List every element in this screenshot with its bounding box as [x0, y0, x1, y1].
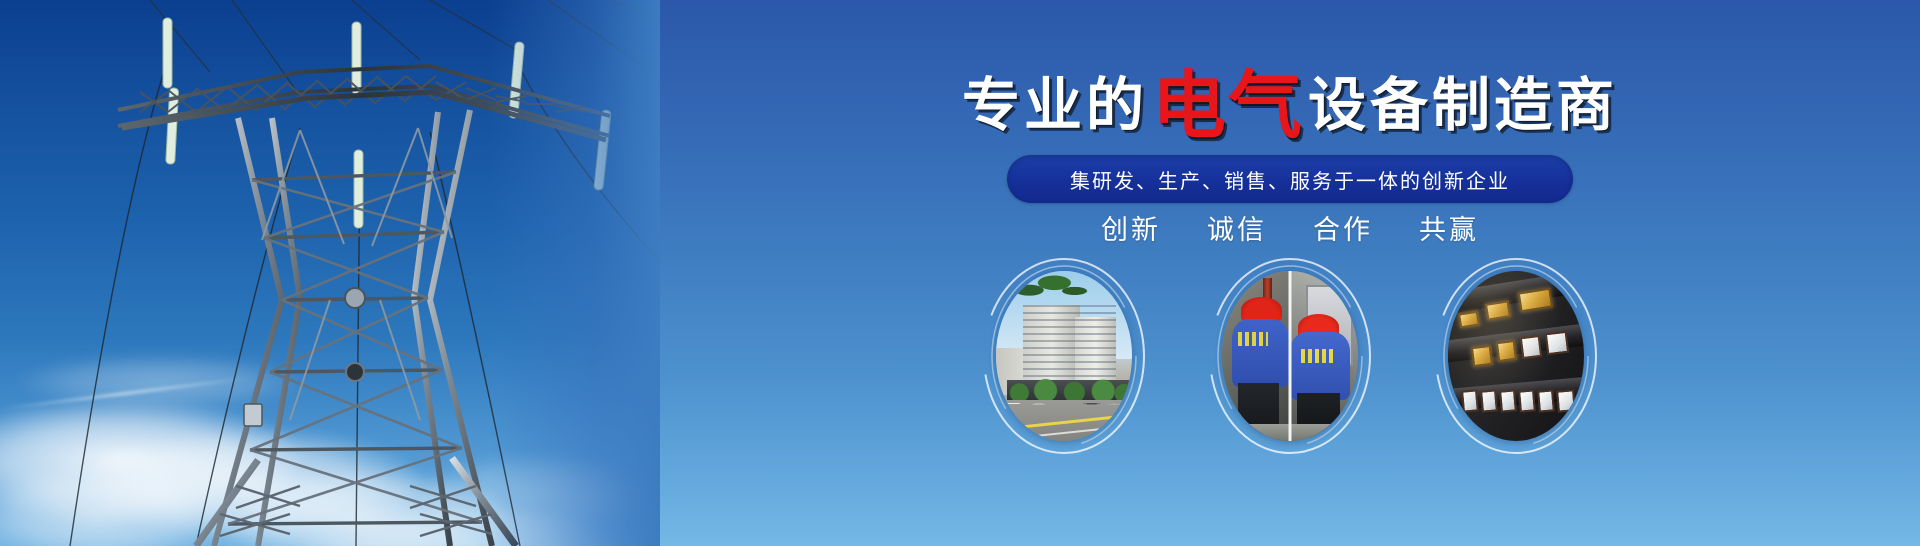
- headline-suffix: 设备制造商: [1308, 71, 1618, 139]
- keyword-winwin: 共赢: [1419, 208, 1479, 247]
- hero-banner: 专业的电气设备制造商 集研发、生产、销售、服务于一体的创新企业 创新 诚信 合作…: [0, 0, 1920, 546]
- page-title: 专业的电气设备制造商: [660, 68, 1920, 146]
- tagline-text: 集研发、生产、销售、服务于一体的创新企业: [1070, 165, 1510, 194]
- keyword-row: 创新 诚信 合作 共赢: [660, 208, 1920, 247]
- photo-medallion-row: [660, 263, 1920, 449]
- headline-prefix: 专业的: [962, 71, 1148, 139]
- medallion-workers: [1214, 263, 1366, 449]
- banner-content: 专业的电气设备制造商 集研发、生产、销售、服务于一体的创新企业 创新 诚信 合作…: [660, 0, 1920, 546]
- pylon-icon: [0, 0, 660, 546]
- keyword-cooperation: 合作: [1313, 208, 1373, 247]
- medallion-office-building: [988, 263, 1140, 449]
- office-building-photo: [996, 271, 1132, 441]
- medallion-certificates: [1440, 263, 1592, 449]
- certificates-wall-photo: [1448, 271, 1584, 441]
- tagline-pill: 集研发、生产、销售、服务于一体的创新企业: [1007, 155, 1573, 203]
- keyword-integrity: 诚信: [1207, 208, 1267, 247]
- workers-installation-photo: [1222, 271, 1358, 441]
- transmission-tower-photo: [0, 0, 660, 546]
- headline-highlight: 电气: [1152, 63, 1304, 149]
- keyword-innovation: 创新: [1101, 208, 1161, 247]
